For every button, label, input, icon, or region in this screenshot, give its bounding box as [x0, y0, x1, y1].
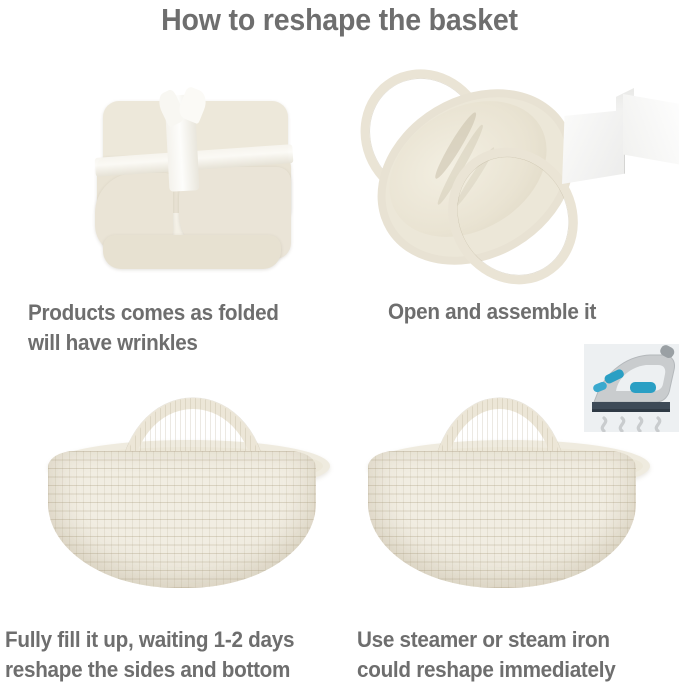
- empty-basket-body: [368, 451, 636, 588]
- folded-basket-base: [103, 235, 281, 269]
- filled-basket-body: [48, 451, 316, 588]
- step-2-image-open-basket: [358, 68, 678, 273]
- step-4-caption: Use steamer or steam iron could reshape …: [357, 625, 615, 685]
- steam-iron-icon: [584, 344, 679, 432]
- step-1-caption: Products comes as folded will have wrink…: [28, 298, 279, 358]
- step-1-image-folded-basket: [95, 95, 295, 270]
- step-3-image-filled-basket: [48, 398, 316, 588]
- page-title: How to reshape the basket: [27, 2, 652, 38]
- step-2-caption: Open and assemble it: [388, 297, 596, 327]
- infographic-page: How to reshape the basket Products comes…: [0, 0, 679, 687]
- rope-weave-texture: [48, 451, 316, 588]
- rope-weave-texture: [368, 451, 636, 588]
- step-3-caption: Fully fill it up, waiting 1-2 days resha…: [5, 625, 294, 685]
- divider-right-panel: [623, 94, 679, 166]
- white-folding-divider-insert: [562, 88, 679, 192]
- divider-left-panel: [562, 110, 625, 184]
